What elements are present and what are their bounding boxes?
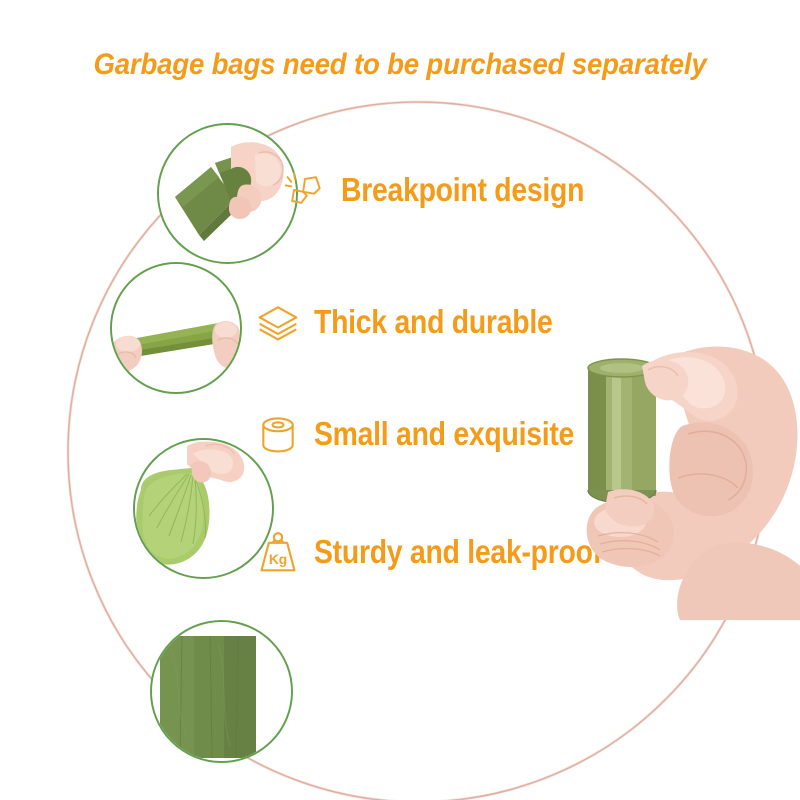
weight-kg-icon: Kg	[256, 528, 300, 576]
decorative-arc	[0, 0, 800, 800]
feature-row-leakproof: Kg Sturdy and leak-proof	[256, 528, 649, 576]
hand-tearing-bag-illustration	[159, 125, 296, 262]
page-title: Garbage bags need to be purchased separa…	[32, 48, 768, 82]
paper-roll-icon	[256, 410, 300, 458]
stretching-bag-illustration	[112, 264, 240, 392]
feature-row-breakpoint: Breakpoint design	[283, 166, 624, 214]
feature-label-breakpoint: Breakpoint design	[341, 171, 584, 209]
hand-roll-illustration	[560, 330, 800, 620]
feature-row-durable: Thick and durable	[256, 298, 591, 346]
feature-label-exquisite: Small and exquisite	[314, 415, 574, 453]
feature-photo-flat-bag	[150, 620, 293, 763]
feature-photo-exquisite	[133, 438, 274, 579]
feature-photo-breakpoint	[157, 123, 298, 264]
tear-breakpoint-icon	[283, 166, 327, 214]
feature-label-durable: Thick and durable	[314, 303, 552, 341]
feature-photo-durable	[110, 262, 242, 394]
feature-row-exquisite: Small and exquisite	[256, 410, 616, 458]
feature-label-leakproof: Sturdy and leak-proof	[314, 533, 602, 571]
filled-bag-illustration	[135, 440, 272, 577]
flat-folded-bag-illustration	[152, 622, 291, 761]
layers-stack-icon	[256, 298, 300, 346]
hero-hand-holding-roll	[560, 330, 800, 620]
product-feature-graphic: Garbage bags need to be purchased separa…	[0, 0, 800, 800]
weight-icon-text: Kg	[269, 552, 287, 567]
